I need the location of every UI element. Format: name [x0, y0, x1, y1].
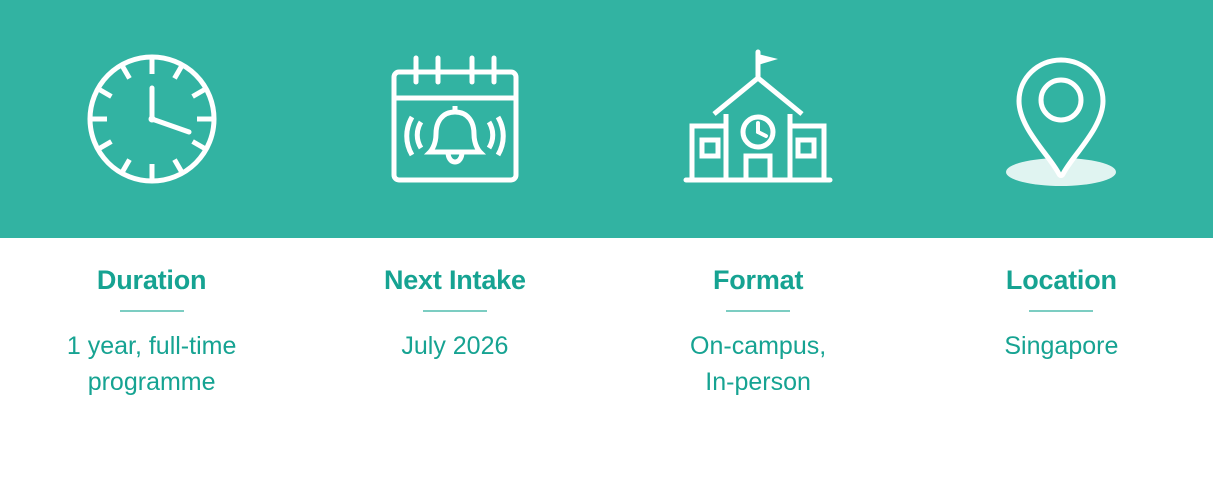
divider-next-intake	[423, 310, 487, 312]
divider-duration	[120, 310, 184, 312]
clock-icon	[77, 44, 227, 194]
calendar-bell-icon	[380, 44, 530, 194]
icon-band	[0, 0, 1213, 238]
icon-cell-format	[607, 0, 910, 238]
cell-title-next-intake: Next Intake	[384, 266, 526, 296]
icon-cell-duration	[0, 0, 303, 238]
cell-value-location: Singapore	[1004, 328, 1118, 364]
cell-value-format: On-campus, In-person	[690, 328, 826, 401]
cell-title-location: Location	[1006, 266, 1117, 296]
cell-value-duration: 1 year, full-time programme	[67, 328, 237, 401]
text-band: Duration 1 year, full-time programme Nex…	[0, 238, 1213, 497]
cell-value-next-intake: July 2026	[401, 328, 508, 364]
text-cell-duration: Duration 1 year, full-time programme	[0, 238, 303, 497]
divider-location	[1029, 310, 1093, 312]
text-cell-format: Format On-campus, In-person	[607, 238, 910, 497]
cell-title-format: Format	[713, 266, 803, 296]
text-cell-location: Location Singapore	[910, 238, 1213, 497]
divider-format	[726, 310, 790, 312]
school-building-icon	[678, 44, 838, 194]
text-cell-next-intake: Next Intake July 2026	[303, 238, 606, 497]
program-info-strip: Duration 1 year, full-time programme Nex…	[0, 0, 1213, 497]
icon-cell-location	[910, 0, 1213, 238]
icon-cell-next-intake	[303, 0, 606, 238]
location-pin-icon	[986, 44, 1136, 194]
cell-title-duration: Duration	[97, 266, 206, 296]
